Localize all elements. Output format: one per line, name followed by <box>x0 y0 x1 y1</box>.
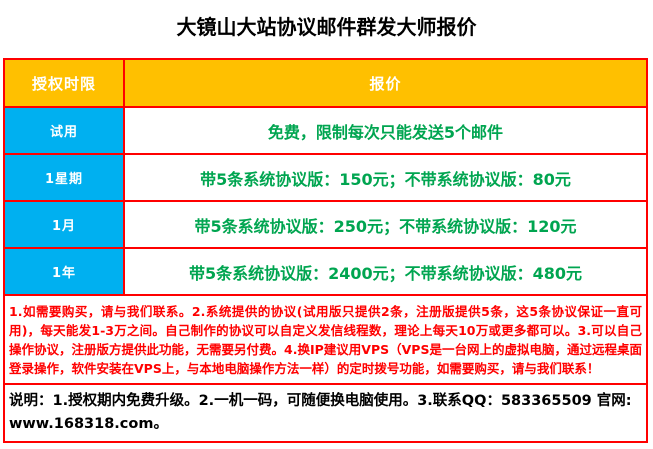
table-row: 1年 带5条系统协议版：2400元；不带系统协议版：480元 <box>4 248 647 295</box>
term-cell: 试用 <box>4 107 124 154</box>
pricing-table: 授权时限 报价 试用 免费，限制每次只能发送5个邮件 1星期 带5条系统协议版：… <box>3 58 648 296</box>
term-cell: 1年 <box>4 248 124 295</box>
page-title: 大镜山大站协议邮件群发大师报价 <box>0 0 653 37</box>
column-header-price: 报价 <box>124 59 647 107</box>
table-row: 1月 带5条系统协议版：250元；不带系统协议版：120元 <box>4 201 647 248</box>
price-cell: 带5条系统协议版：150元；不带系统协议版：80元 <box>124 154 647 201</box>
pricing-document: 大镜山大站协议邮件群发大师报价 授权时限 报价 试用 免费，限制每次只能发送5个… <box>0 0 653 449</box>
table-row: 试用 免费，限制每次只能发送5个邮件 <box>4 107 647 154</box>
term-cell: 1星期 <box>4 154 124 201</box>
price-cell: 带5条系统协议版：2400元；不带系统协议版：480元 <box>124 248 647 295</box>
table-row: 1星期 带5条系统协议版：150元；不带系统协议版：80元 <box>4 154 647 201</box>
table-header-row: 授权时限 报价 <box>4 59 647 107</box>
price-cell: 免费，限制每次只能发送5个邮件 <box>124 107 647 154</box>
price-cell: 带5条系统协议版：250元；不带系统协议版：120元 <box>124 201 647 248</box>
term-cell: 1月 <box>4 201 124 248</box>
footer-note-block: 说明：1.授权期内免费升级。2.一机一码，可随便换电脑使用。3.联系QQ：583… <box>3 383 648 443</box>
column-header-term: 授权时限 <box>4 59 124 107</box>
notes-block: 1.如需要购买，请与我们联系。2.系统提供的协议(试用版只提供2条，注册版提供5… <box>3 296 648 383</box>
